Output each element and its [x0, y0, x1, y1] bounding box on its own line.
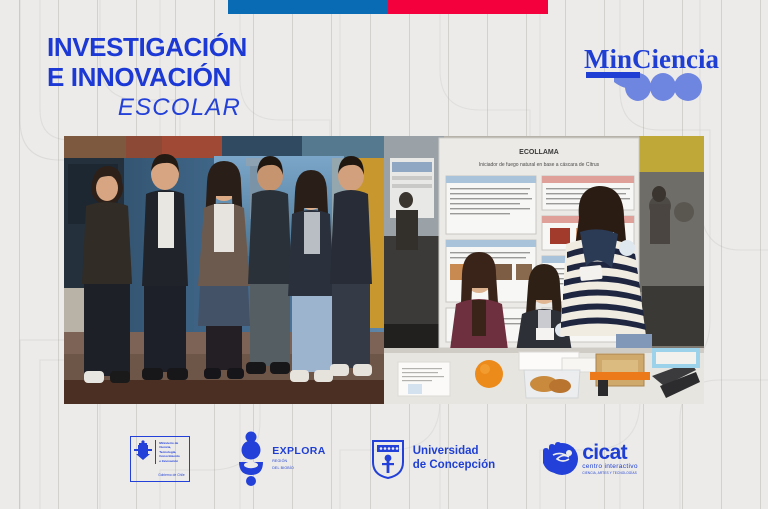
- title-line-2: E INNOVACIÓN: [47, 66, 247, 92]
- gobierno-de-chile-label: Gobierno de Chile: [131, 473, 189, 481]
- universidad-concepcion-logo: Universidad de Concepción: [370, 438, 495, 480]
- udec-shield-icon: [370, 438, 406, 480]
- cicat-hand-circle-icon: [539, 439, 581, 479]
- flag-red-segment: [388, 0, 548, 14]
- chile-coat-of-arms-icon: [131, 437, 155, 467]
- explora-region-line-2: DEL BIOBÍO: [272, 466, 326, 471]
- ministry-name: Ministerio de Ciencia, Tecnología, Conoc…: [156, 437, 189, 467]
- udec-line-1: Universidad: [413, 445, 495, 459]
- poster-canvas: INVESTIGACIÓN E INNOVACIÓN ESCOLAR MinCi…: [0, 0, 768, 509]
- title-line-3: ESCOLAR: [47, 96, 243, 120]
- page-title: INVESTIGACIÓN E INNOVACIÓN ESCOLAR: [47, 36, 243, 120]
- photo-group-school: [64, 136, 384, 404]
- flag-blue-segment: [228, 0, 388, 14]
- explora-figure-icon: [234, 431, 268, 487]
- udec-line-2: de Concepción: [413, 459, 495, 473]
- cicat-subtagline: ciencia, artes y tecnologías: [582, 472, 638, 475]
- footer-logo-row: Ministerio de Ciencia, Tecnología, Conoc…: [0, 424, 768, 494]
- ministerio-logo: Ministerio de Ciencia, Tecnología, Conoc…: [130, 436, 190, 482]
- ministry-line-5: e Innovación: [159, 459, 187, 463]
- minciencia-logo: MinCiencia: [580, 42, 728, 104]
- poster-subtitle: Iniciador de fuego natural en base a cás…: [479, 162, 600, 168]
- explora-wordmark: EXPLORA: [272, 446, 326, 457]
- cicat-wordmark: cicat: [582, 443, 638, 462]
- title-line-1: INVESTIGACIÓN: [47, 36, 247, 62]
- explora-logo: EXPLORA REGIÓN DEL BIOBÍO: [234, 431, 326, 487]
- cicat-tagline: centro interactivo: [582, 464, 638, 471]
- photo-science-fair-booth: ECOLLAMA Iniciador de fuego natural en b…: [384, 136, 704, 404]
- minciencia-wordmark: MinCiencia: [584, 44, 719, 74]
- photo-strip: ECOLLAMA Iniciador de fuego natural en b…: [64, 136, 704, 404]
- poster-title: ECOLLAMA: [519, 149, 559, 156]
- explora-region-line-1: REGIÓN: [272, 459, 326, 464]
- cicat-logo: cicat centro interactivo ciencia, artes …: [539, 439, 638, 479]
- udec-wordmark: Universidad de Concepción: [413, 445, 495, 472]
- chile-flag-bar: [228, 0, 548, 14]
